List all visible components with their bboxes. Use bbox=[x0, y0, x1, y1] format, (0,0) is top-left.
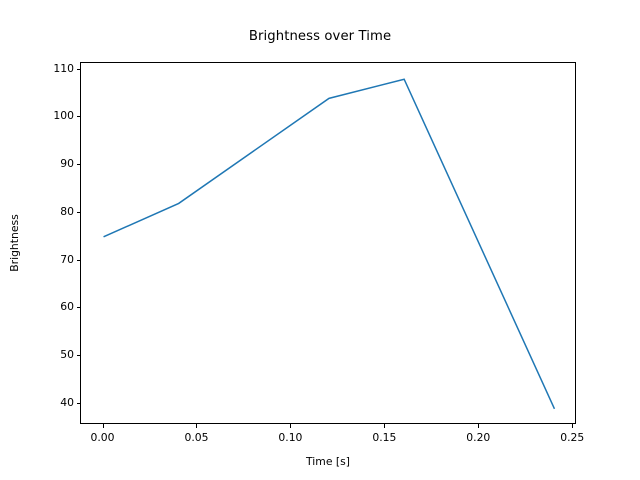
figure-canvas: Brightness over Time 405060708090100110 … bbox=[0, 0, 640, 480]
x-tick-mark bbox=[103, 424, 104, 428]
y-tick-mark bbox=[77, 69, 81, 70]
x-tick-label: 0.10 bbox=[250, 431, 330, 444]
line-plot-svg bbox=[81, 63, 577, 425]
y-tick-mark bbox=[77, 355, 81, 356]
data-series-line bbox=[104, 79, 555, 409]
x-tick-label: 0.05 bbox=[156, 431, 236, 444]
x-tick-mark bbox=[384, 424, 385, 428]
y-tick-mark bbox=[77, 164, 81, 165]
x-tick-mark bbox=[572, 424, 573, 428]
y-tick-mark bbox=[77, 403, 81, 404]
x-axis-label: Time [s] bbox=[80, 455, 576, 468]
x-tick-mark bbox=[196, 424, 197, 428]
y-tick-mark bbox=[77, 260, 81, 261]
y-tick-mark bbox=[77, 307, 81, 308]
x-tick-label: 0.00 bbox=[63, 431, 143, 444]
x-tick-mark bbox=[290, 424, 291, 428]
y-tick-mark bbox=[77, 116, 81, 117]
chart-title: Brightness over Time bbox=[0, 29, 640, 44]
y-tick-mark bbox=[77, 212, 81, 213]
x-tick-label: 0.20 bbox=[438, 431, 518, 444]
y-axis-label: Brightness bbox=[8, 62, 22, 424]
x-tick-mark bbox=[478, 424, 479, 428]
plot-axes bbox=[80, 62, 576, 424]
x-tick-label: 0.25 bbox=[532, 431, 612, 444]
x-tick-label: 0.15 bbox=[344, 431, 424, 444]
